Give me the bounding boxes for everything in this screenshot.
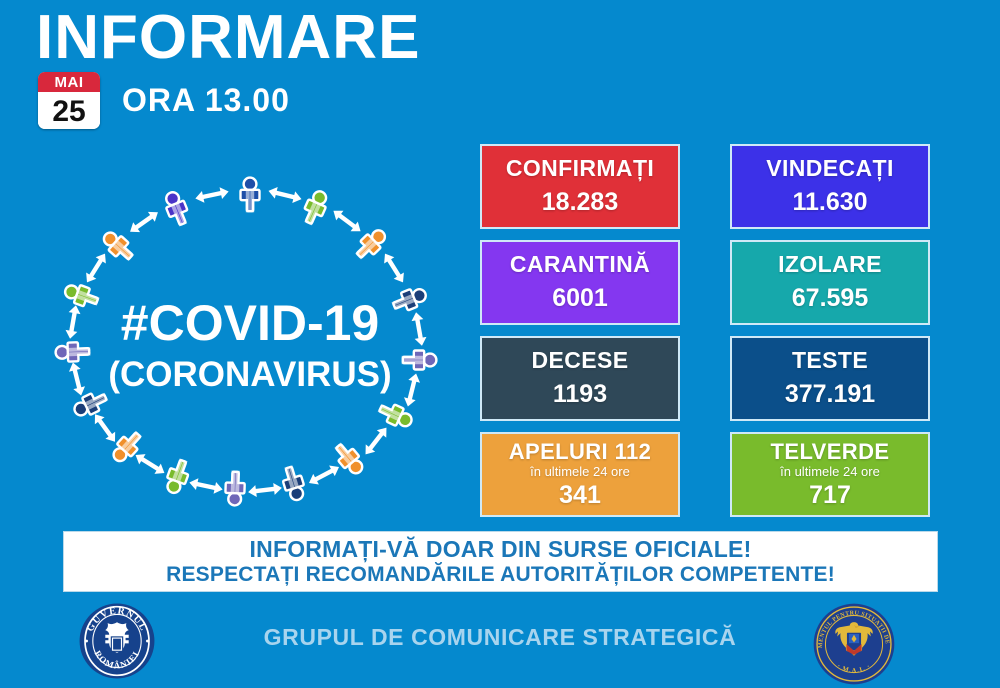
dsu-mai-seal-icon: DEPARTAMENTUL PENTRU SITUAȚII DE URGENȚĂ… xyxy=(812,602,896,686)
stat-box-teste[interactable]: TESTE 377.191 xyxy=(730,336,930,421)
calendar-icon: MAI 25 xyxy=(38,72,100,129)
calendar-month-label: MAI xyxy=(38,72,100,94)
stat-box-carantina[interactable]: CARANTINĂ 6001 xyxy=(480,240,680,325)
stat-value-telverde: 717 xyxy=(809,482,851,510)
stat-value-confirmati: 18.283 xyxy=(542,189,618,217)
stat-label-izolare: IZOLARE xyxy=(778,252,882,277)
infographic-page: INFORMARE MAI 25 ORA 13.00 xyxy=(0,0,1000,688)
stat-value-izolare: 67.595 xyxy=(792,285,868,313)
stat-value-teste: 377.191 xyxy=(785,381,875,409)
stat-value-carantina: 6001 xyxy=(552,285,608,313)
stat-label-teste: TESTE xyxy=(792,348,868,373)
stat-box-decese[interactable]: DECESE 1193 xyxy=(480,336,680,421)
stat-label-decese: DECESE xyxy=(532,348,629,373)
stat-value-apeluri-112: 341 xyxy=(559,482,601,510)
footer: GUVERNUL ROMÂNIEI GRUPUL DE COMUNICARE S… xyxy=(0,598,1000,688)
stat-sub-telverde: în ultimele 24 ore xyxy=(780,464,880,480)
banner-line-2: RESPECTAȚI RECOMANDĂRILE AUTORITĂȚILOR C… xyxy=(166,563,835,587)
banner-line-1: INFORMAȚI-VĂ DOAR DIN SURSE OFICIALE! xyxy=(250,536,752,562)
stat-label-apeluri-112: APELURI 112 xyxy=(509,440,652,464)
stat-label-carantina: CARANTINĂ xyxy=(510,252,650,277)
covid-title: #COVID-19 xyxy=(121,295,379,351)
people-distancing-circle-icon: #COVID-19 (CORONAVIRUS) xyxy=(40,160,460,520)
stat-sub-apeluri-112: în ultimele 24 ore xyxy=(530,464,630,480)
official-sources-banner: INFORMAȚI-VĂ DOAR DIN SURSE OFICIALE! RE… xyxy=(63,531,938,592)
stat-box-izolare[interactable]: IZOLARE 67.595 xyxy=(730,240,930,325)
date-bar: MAI 25 ORA 13.00 xyxy=(38,72,290,129)
stat-label-vindecati: VINDECAȚI xyxy=(766,156,894,181)
stat-box-telverde[interactable]: TELVERDE în ultimele 24 ore 717 xyxy=(730,432,930,517)
calendar-day-label: 25 xyxy=(38,94,100,129)
stat-value-vindecati: 11.630 xyxy=(792,189,867,217)
stat-box-confirmati[interactable]: CONFIRMAȚI 18.283 xyxy=(480,144,680,229)
stat-box-vindecati[interactable]: VINDECAȚI 11.630 xyxy=(730,144,930,229)
covid-circle-graphic: #COVID-19 (CORONAVIRUS) xyxy=(40,160,460,520)
stat-label-telverde: TELVERDE xyxy=(771,440,890,464)
page-title: INFORMARE xyxy=(36,4,420,72)
stat-label-confirmati: CONFIRMAȚI xyxy=(506,156,654,181)
covid-subtitle: (CORONAVIRUS) xyxy=(108,355,391,394)
hour-label: ORA 13.00 xyxy=(122,82,290,119)
stat-value-decese: 1193 xyxy=(553,381,607,409)
stat-box-apeluri-112[interactable]: APELURI 112 în ultimele 24 ore 341 xyxy=(480,432,680,517)
